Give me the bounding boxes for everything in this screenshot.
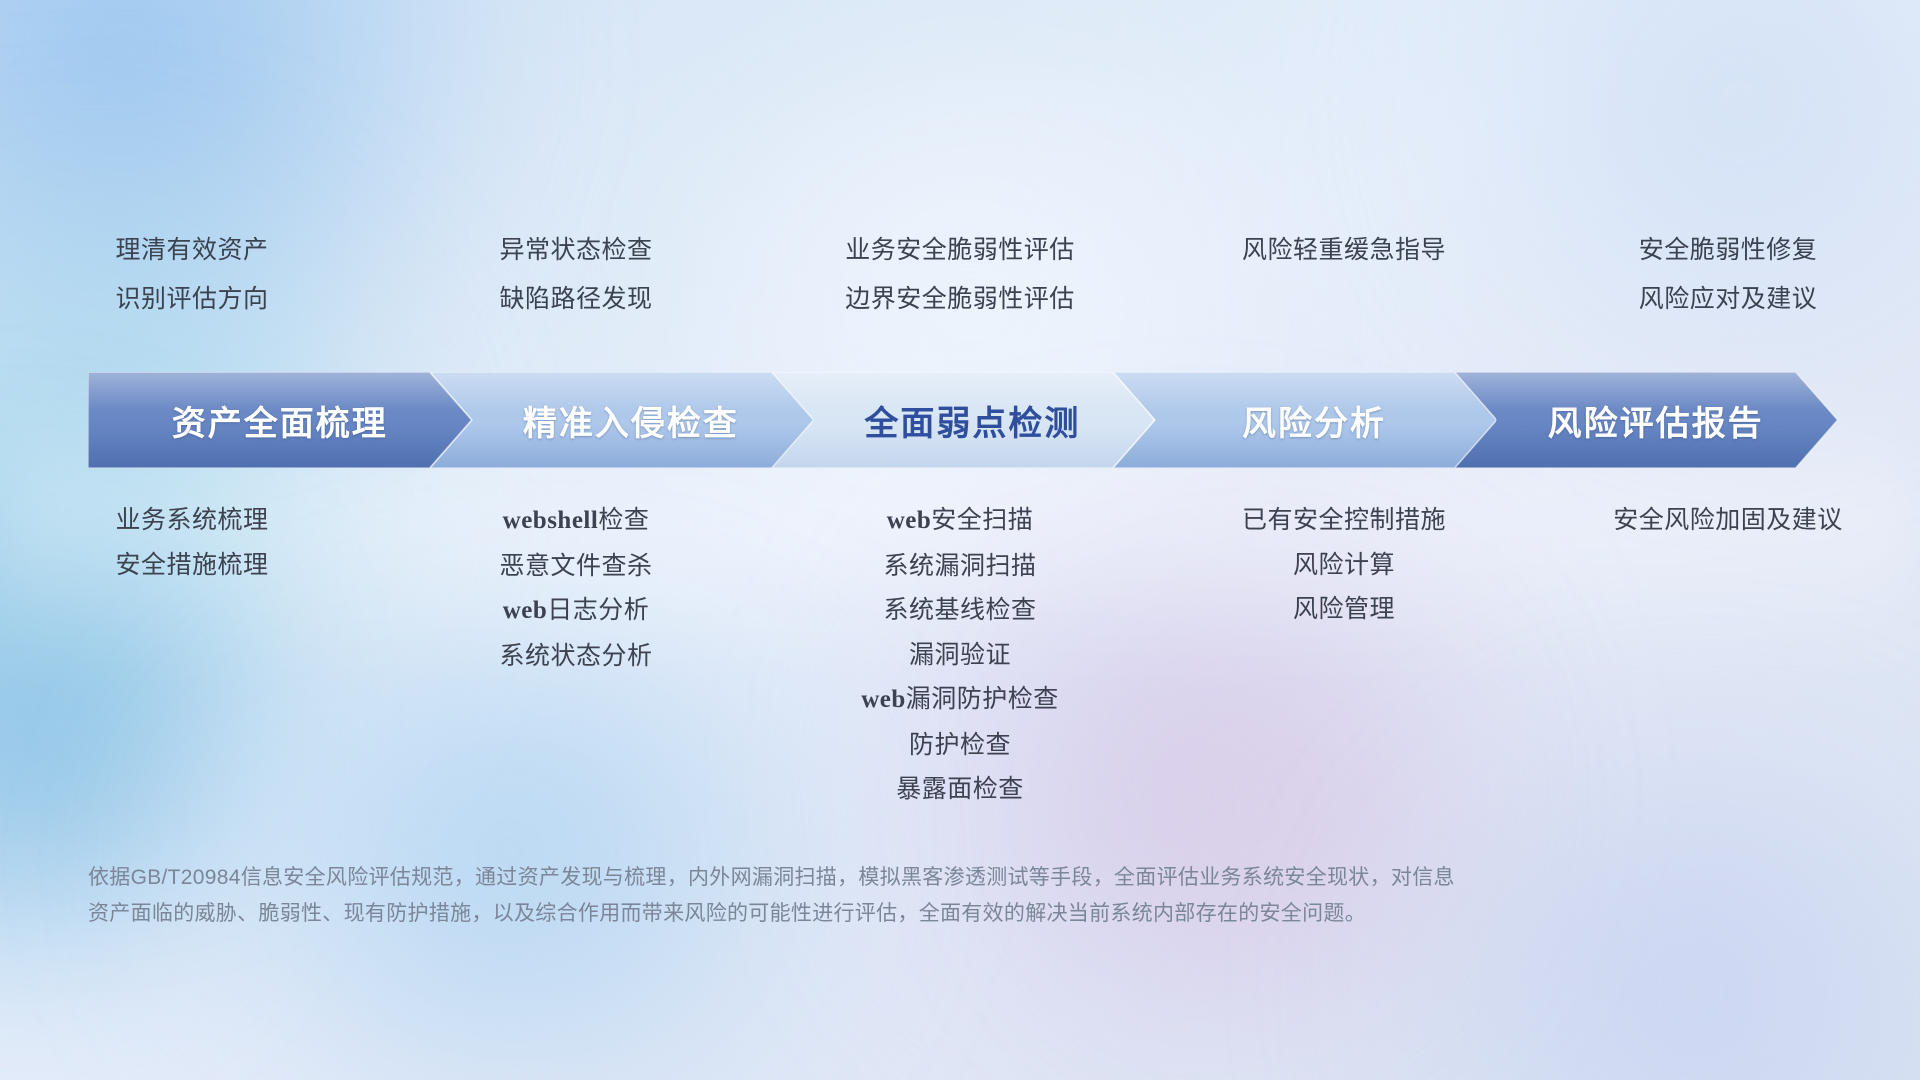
bottom-activity-item: web漏洞防护检查 — [861, 679, 1059, 721]
cjk-token: 日志分析 — [547, 596, 649, 624]
process-diagram: 理清有效资产识别评估方向异常状态检查缺陷路径发现业务安全脆弱性评估边界安全脆弱性… — [0, 0, 1920, 1080]
process-step-2[interactable]: 精准入侵检查 — [430, 372, 814, 468]
bottom-activity-item: 安全措施梳理 — [115, 545, 268, 586]
bottom-activity-item: 风险计算 — [1293, 545, 1395, 586]
process-step-label-5: 风险评估报告 — [1548, 396, 1764, 445]
top-outcome-item: 风险轻重缓急指导 — [1242, 230, 1446, 271]
cjk-token: 检查 — [598, 506, 649, 534]
bottom-activity-column-4: 已有安全控制措施风险计算风险管理 — [1152, 500, 1536, 840]
top-outcome-column-4: 风险轻重缓急指导 — [1152, 230, 1536, 340]
process-step-1[interactable]: 资产全面梳理 — [88, 372, 472, 468]
top-outcome-item: 安全脆弱性修复 — [1639, 230, 1818, 271]
bottom-activity-column-1: 业务系统梳理安全措施梳理 — [0, 500, 384, 840]
top-outcome-item: 业务安全脆弱性评估 — [845, 230, 1075, 271]
bottom-activity-item: 恶意文件查杀 — [499, 546, 652, 587]
bottom-activity-column-3: web安全扫描系统漏洞扫描系统基线检查漏洞验证web漏洞防护检查防护检查暴露面检… — [768, 500, 1152, 840]
process-step-5[interactable]: 风险评估报告 — [1454, 372, 1838, 468]
top-outcome-column-3: 业务安全脆弱性评估边界安全脆弱性评估 — [768, 230, 1152, 340]
process-chevron-bar: 资产全面梳理 精准入侵检查 — [88, 372, 1838, 468]
top-outcome-column-2: 异常状态检查缺陷路径发现 — [384, 230, 768, 340]
latin-token: web — [887, 507, 932, 534]
bottom-activity-item: 系统漏洞扫描 — [883, 546, 1036, 587]
process-step-label-2: 精准入侵检查 — [523, 396, 739, 445]
bottom-activity-item: 防护检查 — [909, 725, 1011, 766]
bottom-activity-item: 系统状态分析 — [499, 636, 652, 677]
top-outcomes-row: 理清有效资产识别评估方向异常状态检查缺陷路径发现业务安全脆弱性评估边界安全脆弱性… — [0, 230, 1920, 340]
bottom-activity-item: 系统基线检查 — [883, 590, 1036, 631]
process-step-label-3: 全面弱点检测 — [864, 396, 1080, 445]
process-step-3[interactable]: 全面弱点检测 — [771, 372, 1155, 468]
top-outcome-item: 异常状态检查 — [499, 230, 652, 271]
bottom-activity-item: webshell检查 — [503, 500, 650, 542]
top-outcome-item: 缺陷路径发现 — [499, 279, 652, 320]
bottom-activity-column-2: webshell检查恶意文件查杀web日志分析系统状态分析 — [384, 500, 768, 840]
latin-token: web — [503, 597, 548, 624]
latin-token: webshell — [503, 507, 599, 534]
bottom-activity-item: web日志分析 — [503, 590, 650, 632]
top-outcome-item: 风险应对及建议 — [1639, 279, 1818, 320]
footer-line-1: 依据GB/T20984信息安全风险评估规范，通过资产发现与梳理，内外网漏洞扫描，… — [88, 860, 1588, 896]
process-step-label-4: 风险分析 — [1242, 396, 1386, 445]
bottom-activity-item: 风险管理 — [1293, 589, 1395, 630]
bottom-activity-item: 已有安全控制措施 — [1242, 500, 1446, 541]
bottom-activity-item: web安全扫描 — [887, 500, 1034, 542]
cjk-token: 漏洞防护检查 — [906, 685, 1059, 713]
cjk-token: 安全扫描 — [931, 506, 1033, 534]
bottom-activity-item: 暴露面检查 — [896, 769, 1024, 810]
top-outcome-item: 边界安全脆弱性评估 — [845, 279, 1075, 320]
top-outcome-column-5: 安全脆弱性修复风险应对及建议 — [1536, 230, 1920, 340]
bottom-activity-item: 业务系统梳理 — [115, 500, 268, 541]
bottom-activity-column-5: 安全风险加固及建议 — [1536, 500, 1920, 840]
footer-line-2: 资产面临的威胁、脆弱性、现有防护措施，以及综合作用而带来风险的可能性进行评估，全… — [88, 896, 1588, 932]
top-outcome-item: 理清有效资产 — [115, 230, 268, 271]
footer-description: 依据GB/T20984信息安全风险评估规范，通过资产发现与梳理，内外网漏洞扫描，… — [88, 860, 1588, 932]
process-step-4[interactable]: 风险分析 — [1113, 372, 1497, 468]
top-outcome-column-1: 理清有效资产识别评估方向 — [0, 230, 384, 340]
bottom-activity-item: 漏洞验证 — [909, 635, 1011, 676]
latin-token: web — [861, 686, 906, 713]
process-step-label-1: 资产全面梳理 — [172, 396, 388, 445]
bottom-activities-row: 业务系统梳理安全措施梳理webshell检查恶意文件查杀web日志分析系统状态分… — [0, 500, 1920, 840]
top-outcome-item: 识别评估方向 — [115, 279, 268, 320]
bottom-activity-item: 安全风险加固及建议 — [1613, 500, 1843, 541]
